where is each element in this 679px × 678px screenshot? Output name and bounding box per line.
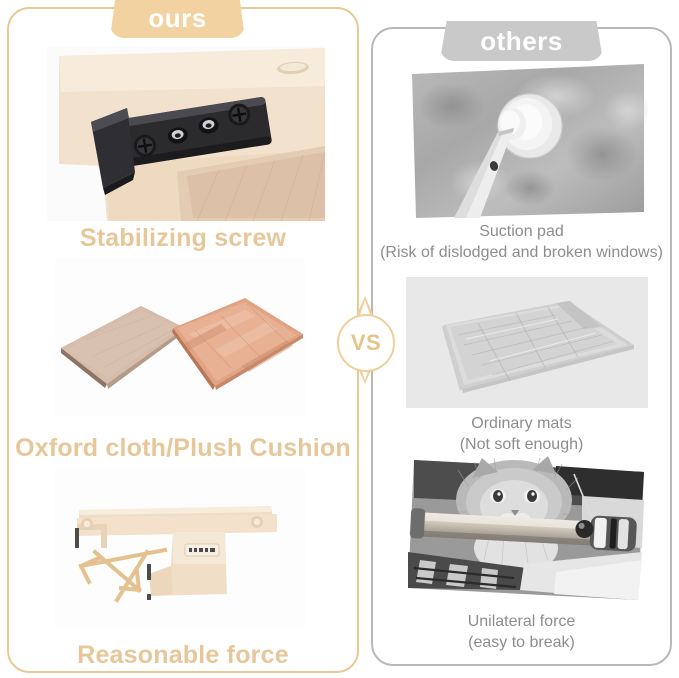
ours-feature-2-photo — [55, 258, 305, 418]
ordinary-mats-image — [406, 277, 648, 408]
others-feature-1-photo — [406, 62, 648, 218]
others-feature-2-caption: Ordinary mats (Not soft enough) — [371, 413, 672, 455]
suction-pad-image — [406, 62, 648, 218]
ours-feature-1-caption: Stabilizing screw — [7, 224, 359, 253]
ours-feature-3-caption: Reasonable force — [7, 641, 359, 670]
reasonable-force-image — [55, 468, 305, 628]
ours-tab-label: ours — [148, 3, 206, 34]
vs-badge: VS — [337, 314, 395, 372]
stabilizing-screw-image — [47, 46, 325, 221]
ours-feature-1-photo — [47, 46, 325, 221]
vs-label: VS — [351, 330, 381, 356]
others-feature-2-caption-line2: (Not soft enough) — [371, 434, 672, 455]
ours-tab: ours — [110, 0, 245, 38]
unilateral-force-image — [406, 456, 648, 604]
others-feature-2-caption-line1: Ordinary mats — [371, 413, 672, 434]
others-feature-3-caption-line2: (easy to break) — [371, 632, 672, 653]
others-feature-1-caption: Suction pad (Risk of dislodged and broke… — [371, 221, 672, 263]
others-feature-2-photo — [406, 277, 648, 408]
others-tab: others — [440, 21, 603, 61]
ours-feature-3-photo — [55, 468, 305, 628]
others-feature-1-caption-line2: (Risk of dislodged and broken windows) — [371, 242, 672, 263]
oxford-cloth-plush-cushion-image — [55, 258, 305, 418]
others-feature-3-caption-line1: Unilateral force — [371, 611, 672, 632]
others-feature-3-caption: Unilateral force (easy to break) — [371, 611, 672, 653]
others-feature-1-caption-line1: Suction pad — [371, 221, 672, 242]
others-tab-label: others — [480, 26, 562, 57]
ours-feature-2-caption: Oxford cloth/Plush Cushion — [7, 434, 359, 463]
others-feature-3-photo — [406, 456, 648, 604]
